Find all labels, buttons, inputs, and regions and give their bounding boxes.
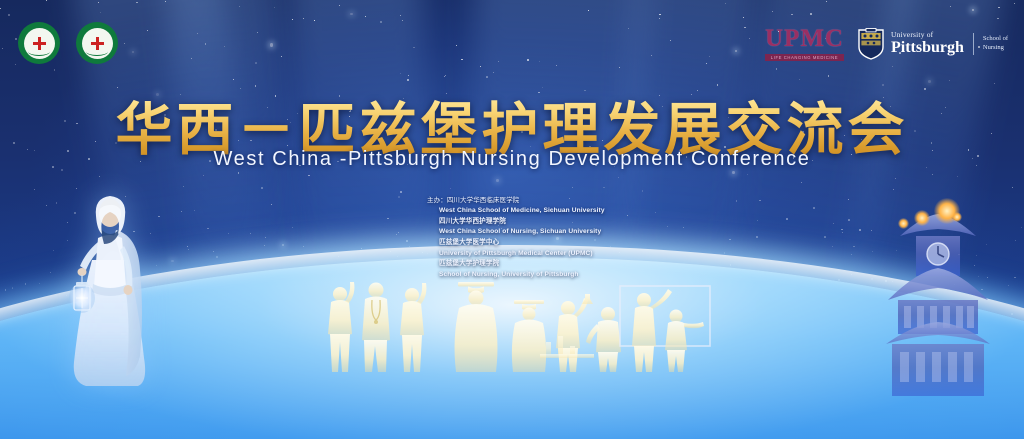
organizer-item: University of Pittsburgh Medical Center … xyxy=(427,249,605,260)
star xyxy=(725,3,726,4)
star xyxy=(932,174,933,175)
star xyxy=(147,30,148,31)
teacher-at-whiteboard xyxy=(632,289,672,372)
star xyxy=(413,47,415,49)
wheat-branch-icon xyxy=(28,47,50,56)
star xyxy=(8,14,10,16)
star xyxy=(400,191,402,193)
star xyxy=(670,40,671,41)
upmc-tagline: LIFE CHANGING MEDICINE xyxy=(765,54,844,61)
emblem-inner-disc xyxy=(82,28,113,59)
star xyxy=(1015,240,1016,241)
conference-banner: UPMC LIFE CHANGING MEDICINE xyxy=(0,0,1024,439)
star xyxy=(772,11,773,12)
star xyxy=(183,186,184,187)
star xyxy=(651,55,652,56)
star xyxy=(400,15,401,16)
star xyxy=(39,283,40,284)
main-title-english: West China -Pittsburgh Nursing Developme… xyxy=(0,148,1024,171)
star xyxy=(493,72,494,73)
star xyxy=(281,56,282,57)
star xyxy=(735,50,738,53)
star xyxy=(188,249,189,250)
star xyxy=(732,171,735,174)
star xyxy=(972,9,974,11)
star xyxy=(15,64,16,65)
star xyxy=(238,172,240,174)
star xyxy=(998,7,1000,9)
star xyxy=(619,67,621,69)
star xyxy=(786,218,788,220)
star xyxy=(136,2,138,4)
star xyxy=(365,16,367,18)
star xyxy=(539,61,540,62)
star xyxy=(132,51,134,53)
star xyxy=(841,229,843,231)
star xyxy=(303,18,304,19)
star xyxy=(292,19,293,20)
star xyxy=(264,245,265,246)
tower-light xyxy=(952,212,962,222)
star xyxy=(380,21,382,23)
star xyxy=(744,27,746,29)
star xyxy=(314,20,315,21)
star xyxy=(628,28,630,30)
organizer-first-cn: 四川大学华西临床医学院 xyxy=(447,197,520,204)
star xyxy=(859,229,861,231)
star xyxy=(1008,285,1009,286)
star xyxy=(98,2,99,3)
star xyxy=(667,226,668,227)
star xyxy=(282,244,284,246)
star xyxy=(407,79,409,81)
star xyxy=(683,227,684,228)
star xyxy=(851,254,852,255)
star xyxy=(588,10,589,11)
student-raising-hand xyxy=(665,310,704,373)
star xyxy=(99,176,100,177)
star xyxy=(25,283,26,284)
star xyxy=(54,69,56,71)
star xyxy=(872,251,873,252)
star xyxy=(207,228,208,229)
star xyxy=(618,177,619,178)
wheat-branch-icon xyxy=(86,47,108,56)
star xyxy=(255,62,257,64)
star xyxy=(659,14,661,16)
star xyxy=(759,200,761,202)
star xyxy=(813,207,815,209)
star xyxy=(486,76,488,78)
organizer-first-line: 主办：四川大学华西临床医学院 xyxy=(427,196,605,206)
star xyxy=(756,236,758,238)
star xyxy=(396,234,397,235)
pitt-wordmark: University of Pittsburgh xyxy=(891,31,964,57)
star xyxy=(402,20,403,21)
star xyxy=(801,182,802,183)
star xyxy=(892,66,893,67)
pitt-university-line: University of xyxy=(891,31,964,39)
star xyxy=(387,218,389,220)
doctor-with-stethoscope xyxy=(362,283,390,373)
star xyxy=(350,13,353,16)
organizer-item: West China School of Medicine, Sichuan U… xyxy=(427,206,605,217)
star xyxy=(736,200,738,202)
star xyxy=(398,196,400,198)
star xyxy=(1014,3,1015,4)
star xyxy=(261,187,263,189)
star xyxy=(997,18,998,19)
star xyxy=(400,73,401,74)
star xyxy=(655,212,656,213)
upmc-wordmark: UPMC xyxy=(765,26,844,51)
lab-bench xyxy=(540,354,594,358)
star xyxy=(213,251,214,252)
star xyxy=(2,48,3,49)
emblem-inner-disc xyxy=(24,28,55,59)
flask-icon xyxy=(582,294,593,304)
star xyxy=(950,6,951,7)
nurse-raising-hand xyxy=(328,282,354,372)
star xyxy=(824,236,826,238)
organizer-item: West China School of Nursing, Sichuan Un… xyxy=(427,227,605,238)
west-china-nursing-emblem xyxy=(76,22,118,64)
star xyxy=(848,219,850,221)
star xyxy=(757,220,758,221)
star xyxy=(828,75,829,76)
star xyxy=(12,288,13,289)
star xyxy=(496,179,499,182)
organizer-item: 四川大学华西护理学院 xyxy=(427,217,605,228)
star xyxy=(833,223,834,224)
star xyxy=(265,237,266,238)
graduate-in-cap-and-gown-2 xyxy=(512,300,546,372)
star xyxy=(791,14,793,16)
star xyxy=(239,6,241,8)
star xyxy=(12,287,13,288)
star xyxy=(46,205,47,206)
star xyxy=(871,230,873,232)
star xyxy=(842,232,844,234)
star xyxy=(642,190,644,192)
star xyxy=(0,8,1,9)
pitt-school-label: School of Nursing xyxy=(983,35,1008,53)
star xyxy=(5,289,7,291)
nurse-raising-hand-2 xyxy=(400,283,426,372)
star xyxy=(928,80,932,84)
star xyxy=(749,38,751,40)
star xyxy=(709,56,710,57)
star xyxy=(556,65,557,66)
tower-light xyxy=(914,210,930,226)
star xyxy=(498,61,499,62)
pitt-shield-icon xyxy=(858,28,884,60)
star xyxy=(308,175,310,177)
pitt-main-line: Pittsburgh xyxy=(891,40,964,57)
pitt-school-line-1: School of xyxy=(983,35,1008,44)
right-logo-group: UPMC LIFE CHANGING MEDICINE xyxy=(765,26,1008,61)
star xyxy=(274,7,275,8)
florence-nightingale-illustration xyxy=(52,186,176,398)
researcher-at-bench xyxy=(586,307,621,372)
star xyxy=(1021,227,1022,228)
pitt-school-line-2: Nursing xyxy=(983,44,1008,53)
star xyxy=(799,79,800,80)
star xyxy=(832,246,833,247)
star xyxy=(456,45,457,46)
star xyxy=(303,246,305,248)
star xyxy=(776,68,777,69)
star xyxy=(572,187,574,189)
star xyxy=(450,188,451,189)
star xyxy=(949,80,950,81)
star xyxy=(165,1,166,2)
star xyxy=(603,187,605,189)
star xyxy=(895,178,897,180)
organizer-item: 匹兹堡大学医学中心 xyxy=(427,238,605,249)
star xyxy=(445,75,446,76)
star xyxy=(46,0,47,1)
organizer-label: 主办： xyxy=(427,197,447,204)
star xyxy=(729,239,731,241)
star xyxy=(194,210,195,211)
star xyxy=(228,233,229,234)
star xyxy=(398,232,399,233)
organizer-item: 匹兹堡大学护理学院 xyxy=(427,259,605,270)
star xyxy=(257,32,258,33)
star xyxy=(893,189,894,190)
star xyxy=(444,76,445,77)
star xyxy=(203,175,204,176)
star xyxy=(191,58,192,59)
star xyxy=(1014,277,1016,279)
tower-light-glows xyxy=(896,196,976,240)
star xyxy=(339,5,340,6)
star xyxy=(124,43,125,44)
star xyxy=(224,46,225,47)
logo-divider xyxy=(973,33,974,55)
star xyxy=(1012,187,1013,188)
star xyxy=(271,204,272,205)
star xyxy=(270,43,274,47)
star xyxy=(461,59,462,60)
star xyxy=(34,189,36,191)
star xyxy=(706,63,707,64)
graduate-in-cap-and-gown xyxy=(455,282,498,372)
star xyxy=(826,1,827,2)
left-logo-group xyxy=(18,22,118,64)
star xyxy=(957,176,959,178)
figure-silhouette-group xyxy=(318,272,718,382)
star xyxy=(181,211,182,212)
star xyxy=(233,79,234,80)
researcher-with-flask xyxy=(556,298,588,372)
star xyxy=(810,13,812,15)
pitt-logo: University of Pittsburgh School of Nursi… xyxy=(858,28,1008,60)
star xyxy=(187,246,188,247)
huaxi-clock-tower-illustration xyxy=(886,196,1008,396)
star xyxy=(250,233,251,234)
star xyxy=(408,75,409,76)
star xyxy=(292,227,293,228)
star xyxy=(853,246,855,248)
star xyxy=(480,66,481,67)
star xyxy=(197,33,198,34)
star xyxy=(743,17,745,19)
organizer-list: 主办：四川大学华西临床医学院 West China School of Medi… xyxy=(427,196,605,281)
star xyxy=(627,215,628,216)
tower-light xyxy=(898,218,909,229)
star xyxy=(659,18,660,19)
west-china-hospital-emblem xyxy=(18,22,60,64)
upmc-logo: UPMC LIFE CHANGING MEDICINE xyxy=(765,26,844,61)
star xyxy=(848,199,849,200)
star xyxy=(100,12,101,13)
star xyxy=(527,59,529,61)
star xyxy=(15,38,17,40)
star xyxy=(205,43,207,45)
star xyxy=(747,174,748,175)
